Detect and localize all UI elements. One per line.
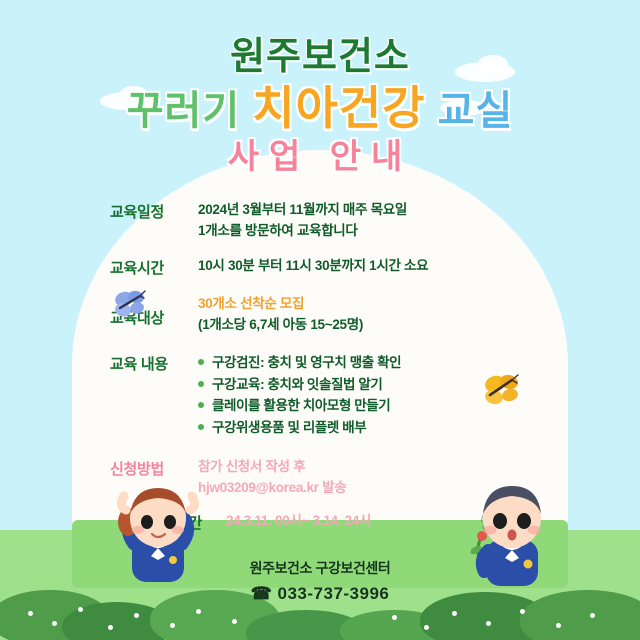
flower [52, 621, 57, 626]
row-label: 교육시간 [110, 256, 198, 278]
list-item: 구강위생용품 및 리플렛 배부 [198, 417, 401, 439]
row-label: 신청방법 [110, 457, 198, 479]
education-content-list: 구강검진: 충치 및 영구치 맹출 확인 구강교육: 충치와 잇솔질법 알기 클… [198, 352, 401, 439]
poster-title: 원주보건소 꾸러기 치아건강 교실 사업 안내 [0, 38, 640, 176]
title-line-3: 사업 안내 [0, 140, 640, 176]
footer-organization: 원주보건소 구강보건센터 [0, 558, 640, 578]
title-part-class: 교실 [438, 89, 514, 133]
title-line-2: 꾸러기 치아건강 교실 [0, 84, 640, 132]
flower [424, 625, 429, 630]
poster-root: 원주보건소 꾸러기 치아건강 교실 사업 안내 교 [0, 0, 640, 640]
flower [590, 613, 595, 618]
row-label: 교육 내용 [110, 352, 198, 374]
row-label: 교육일정 [110, 200, 198, 222]
butterfly-blue-icon [112, 288, 148, 327]
row-value: 2024년 3월부터 11월까지 매주 목요일 1개소를 방문하여 교육합니다 [198, 200, 540, 242]
title-line-1: 원주보건소 [0, 38, 640, 78]
row-education-target: 교육대상 30개소 선착순 모집 (1개소당 6,7세 아동 15~25명) [110, 294, 540, 336]
flower [108, 625, 113, 630]
title-part-dental: 치아건강 [252, 82, 425, 134]
flower [486, 621, 491, 626]
list-item: 구강교육: 충치와 잇솔질법 알기 [198, 374, 401, 396]
value-line: 참가 신청서 작성 후 [198, 457, 540, 478]
list-item: 구강검진: 충치 및 영구치 맹출 확인 [198, 352, 401, 374]
value-line: 10시 30분 부터 11시 30분까지 1시간 소요 [198, 256, 540, 277]
row-value: 30개소 선착순 모집 (1개소당 6,7세 아동 15~25명) [198, 294, 540, 336]
flower [232, 619, 237, 624]
value-line: 2024년 3월부터 11월까지 매주 목요일 [198, 200, 540, 221]
flower [452, 611, 457, 616]
flower [392, 615, 397, 620]
row-education-time: 교육시간 10시 30분 부터 11시 30분까지 1시간 소요 [110, 256, 540, 278]
value-line-highlight: 30개소 선착순 모집 [198, 294, 540, 315]
title-part-kkureogi: 꾸러기 [127, 89, 240, 133]
value-line: 1개소를 방문하여 교육합니다 [198, 221, 540, 242]
flower [134, 613, 139, 618]
flower [556, 623, 561, 628]
footer-phone: ☎ 033-737-3996 [0, 584, 640, 604]
row-value: 10시 30분 부터 11시 30분까지 1시간 소요 [198, 256, 540, 277]
flower [78, 607, 83, 612]
flower [28, 611, 33, 616]
list-item: 클레이를 활용한 치아모형 만들기 [198, 395, 401, 417]
row-education-content: 교육 내용 구강검진: 충치 및 영구치 맹출 확인 구강교육: 충치와 잇솔질… [110, 352, 540, 439]
flower [196, 609, 201, 614]
butterfly-orange-icon [482, 372, 522, 415]
flower [170, 623, 175, 628]
row-education-schedule: 교육일정 2024년 3월부터 11월까지 매주 목요일 1개소를 방문하여 교… [110, 200, 540, 242]
footer: 원주보건소 구강보건센터 ☎ 033-737-3996 [0, 558, 640, 604]
flower [520, 609, 525, 614]
value-line: (1개소당 6,7세 아동 15~25명) [198, 315, 540, 336]
